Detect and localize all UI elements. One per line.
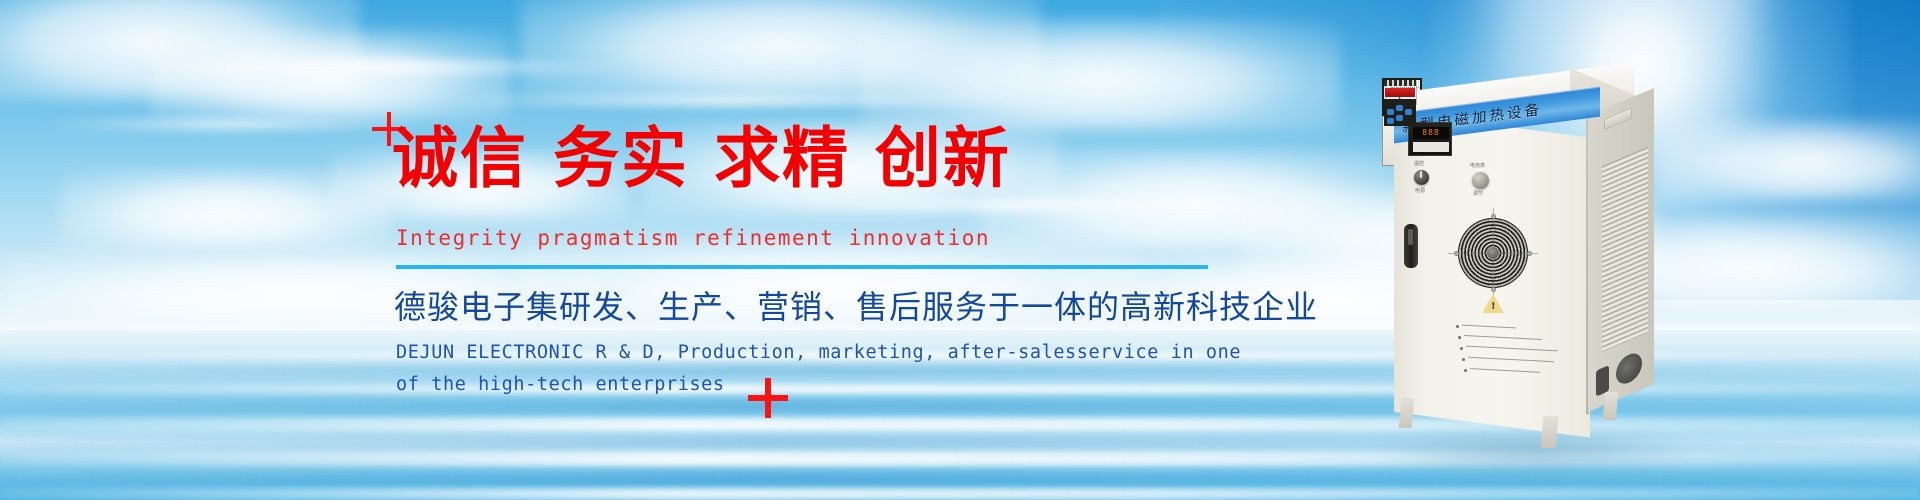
warning-triangle-icon	[1482, 294, 1504, 313]
machine-leg	[1603, 392, 1618, 420]
controller-sublabel: 温控	[1414, 160, 1424, 167]
keypad-button[interactable]	[1405, 109, 1412, 115]
fan-screw	[1491, 214, 1496, 219]
fan-screw	[1454, 251, 1459, 256]
tagline-chinese: 德骏电子集研发、生产、营销、售后服务于一体的高新科技企业	[394, 287, 1318, 327]
controller-label-strip	[1413, 142, 1449, 152]
fan-screw	[1491, 287, 1496, 292]
machine-port-round	[1616, 349, 1642, 388]
divider-rule	[396, 265, 1208, 269]
headline-english: Integrity pragmatism refinement innovati…	[396, 228, 990, 249]
power-knob-label: 电源	[1415, 187, 1425, 194]
tagline-english-line-2: of the high-tech enterprises	[396, 369, 1241, 401]
machine-leg	[1541, 416, 1559, 448]
promo-banner: 诚信 务实 求精 创新 Integrity pragmatism refinem…	[0, 0, 1920, 500]
power-knob[interactable]	[1414, 170, 1429, 185]
ammeter-sublabel: 电流表	[1470, 162, 1485, 169]
keypad-button[interactable]	[1387, 109, 1394, 115]
temperature-controller[interactable]: 888	[1408, 122, 1452, 156]
keypad-button[interactable]	[1387, 118, 1394, 124]
adjust-knob[interactable]	[1472, 172, 1489, 189]
adjust-knob-label: 调节	[1473, 190, 1483, 197]
door-handle[interactable]	[1404, 224, 1418, 268]
instruction-notes	[1456, 322, 1566, 372]
machine-side-panel	[1588, 88, 1654, 412]
machine-vent-grille	[1602, 147, 1648, 353]
machine-side-plate	[1604, 107, 1632, 130]
product-machine: 新型电磁加热设备 888 温控 电流表	[1382, 78, 1682, 478]
fan-hub	[1487, 247, 1499, 259]
tagline-english: DEJUN ELECTRONIC R & D, Production, mark…	[396, 337, 1241, 402]
keypad-buttons[interactable]	[1384, 99, 1416, 126]
machine-shadow	[1372, 428, 1692, 474]
keypad-button[interactable]	[1396, 105, 1403, 111]
machine-leg	[1399, 398, 1415, 428]
keypad-button[interactable]	[1396, 115, 1403, 121]
fan-screw	[1527, 251, 1532, 256]
controller-display: 888	[1413, 127, 1449, 139]
keypad-indicator-row	[1384, 80, 1416, 86]
fan-grille	[1458, 218, 1528, 288]
tagline-english-line-1: DEJUN ELECTRONIC R & D, Production, mark…	[396, 337, 1241, 369]
keypad-red-display	[1385, 88, 1415, 97]
headline-chinese: 诚信 务实 求精 创新	[392, 126, 1011, 192]
